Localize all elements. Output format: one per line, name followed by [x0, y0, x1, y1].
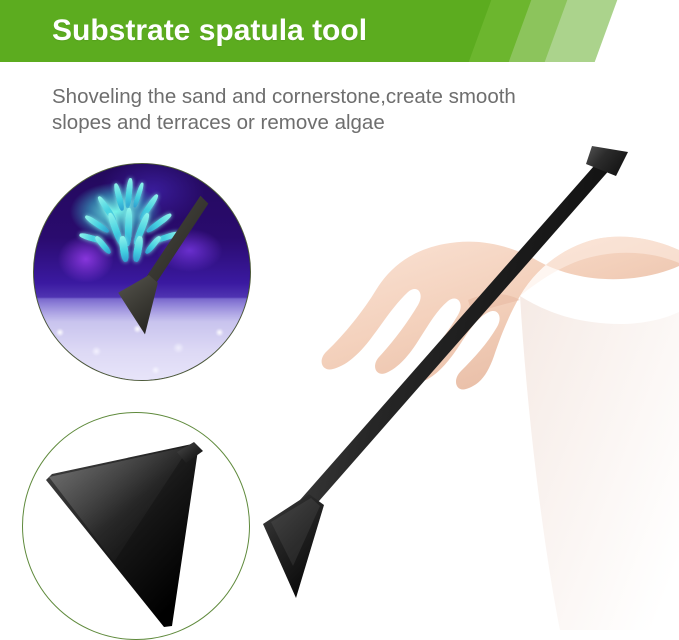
substrate-spatula-in-hand	[0, 0, 679, 630]
